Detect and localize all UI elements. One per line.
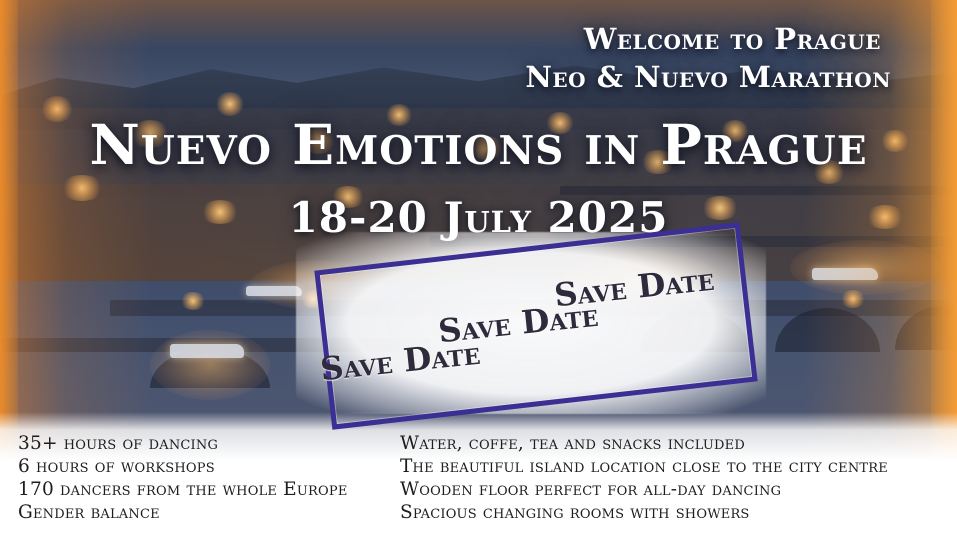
fact-item: 35+ hours of dancing [18,432,348,455]
welcome-line-1: Welcome to Prague [584,22,881,56]
save-date-sticker: Save Date Save Date Save Date [296,232,766,414]
fact-item: 170 dancers from the whole Europe [18,478,348,501]
facts-right-column: Water, coffe, tea and snacks included Th… [400,432,888,524]
fact-item: Spacious changing rooms with showers [400,501,888,524]
welcome-line-2: Neo & Nuevo Marathon [525,60,891,94]
event-headline: Nuevo Emotions in Prague [89,112,867,177]
facts-left-column: 35+ hours of dancing 6 hours of workshop… [18,432,348,524]
fact-item: 6 hours of workshops [18,455,348,478]
fact-item: The beautiful island location close to t… [400,455,888,478]
fact-item: Wooden floor perfect for all-day dancing [400,478,888,501]
fact-item: Gender balance [18,501,348,524]
fact-item: Water, coffe, tea and snacks included [400,432,888,455]
poster-image: Welcome to Prague Neo & Nuevo Marathon N… [0,0,957,540]
